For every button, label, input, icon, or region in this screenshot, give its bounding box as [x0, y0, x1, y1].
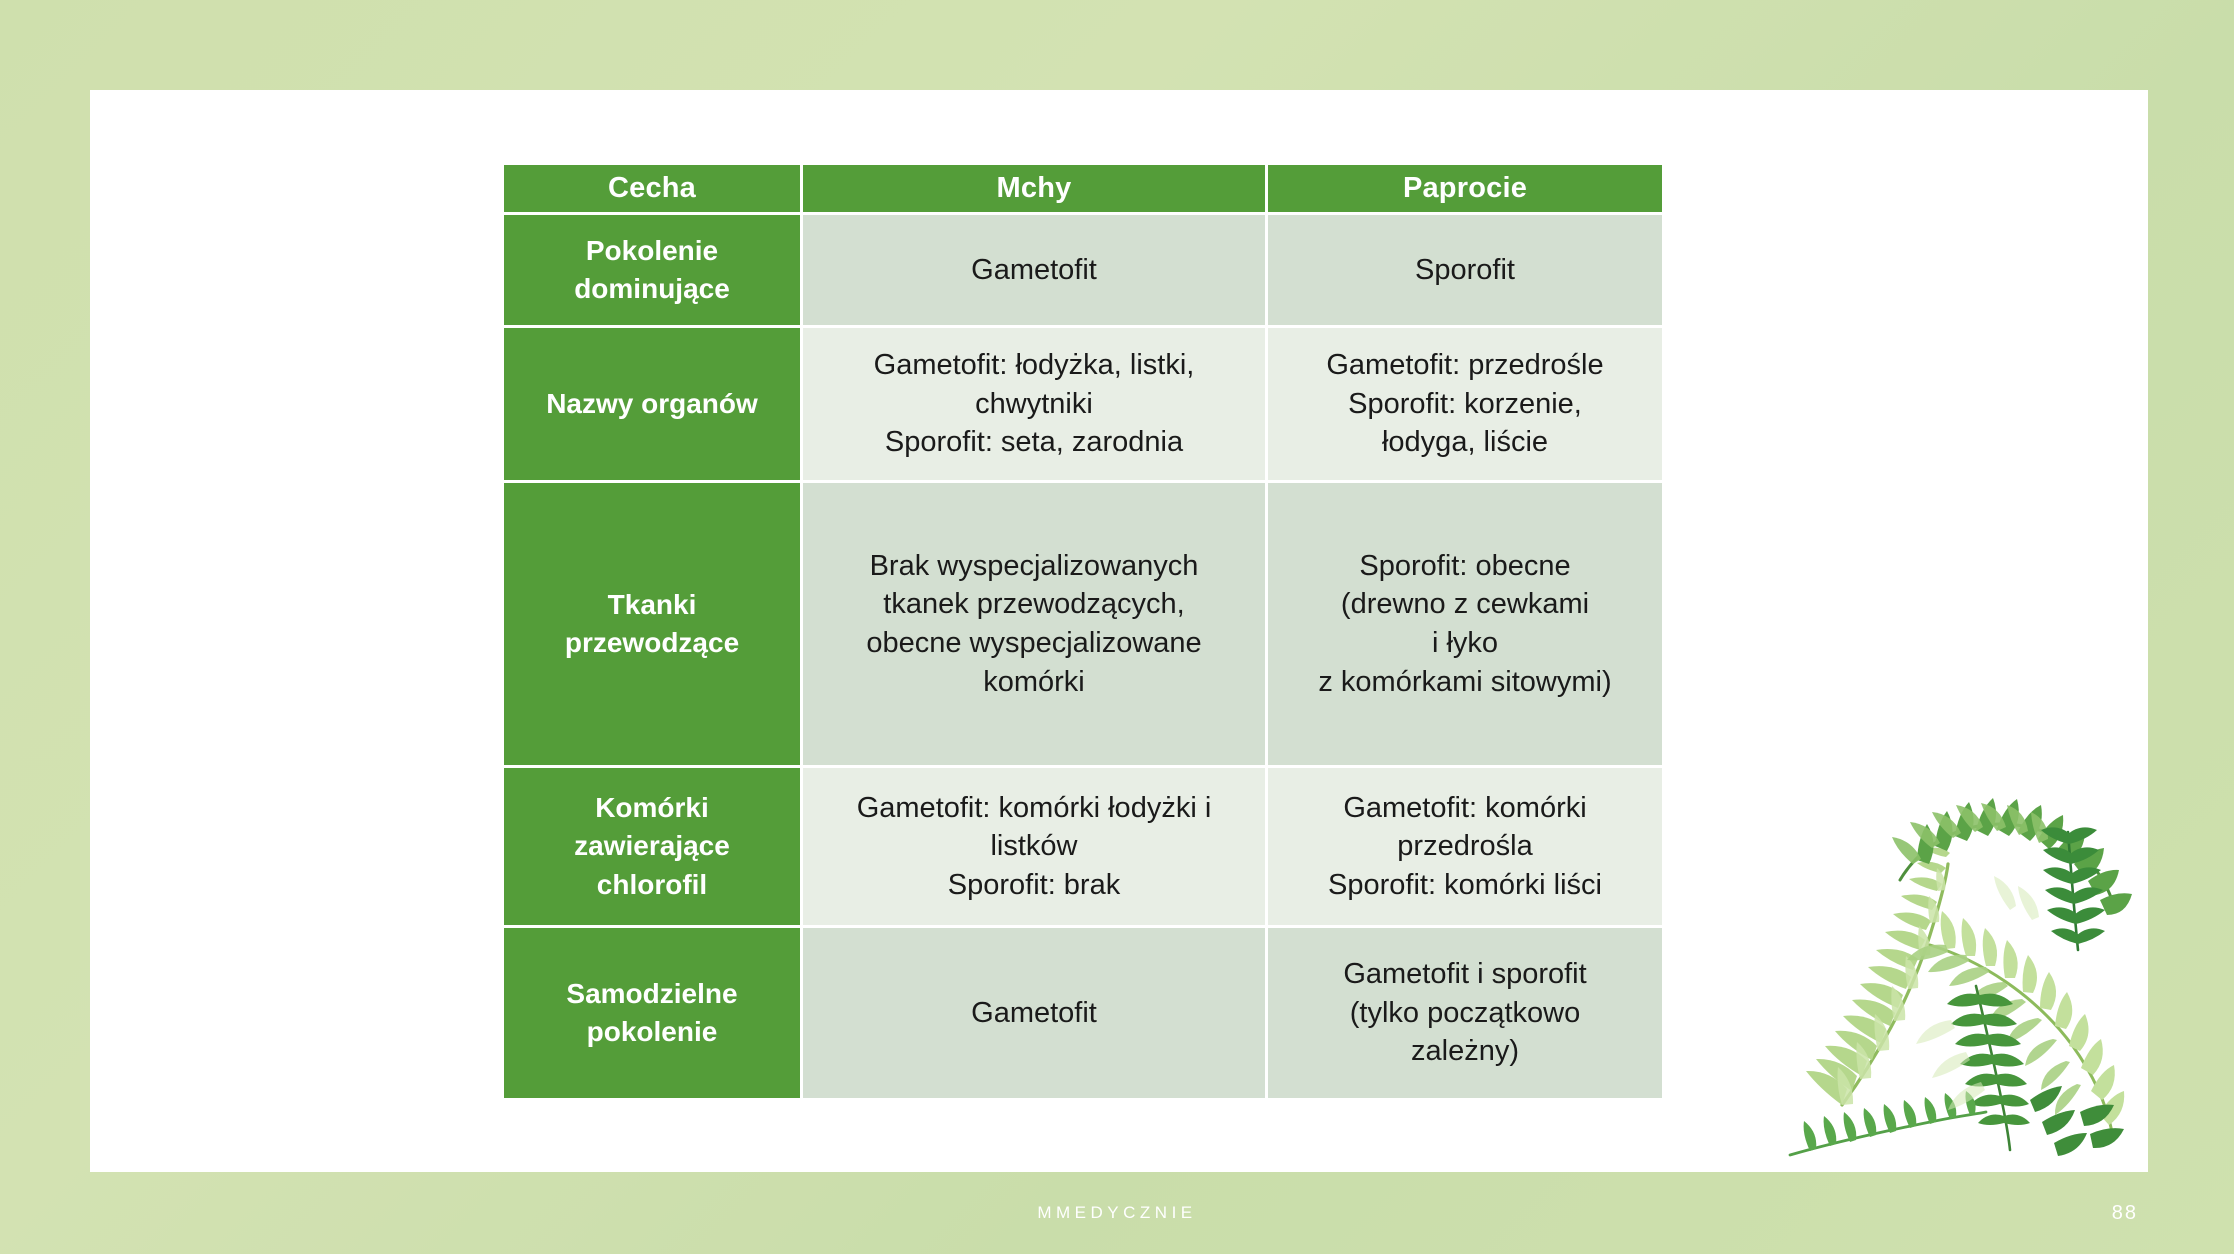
- cell-mosses-conductive-tissues: Brak wyspecjalizowanych tkanek przewodzą…: [803, 483, 1268, 768]
- cell-mosses-dominant-generation: Gametofit: [803, 215, 1268, 328]
- cell-ferns-conductive-tissues: Sporofit: obecne (drewno z cewkami i łyk…: [1268, 483, 1662, 768]
- table-header: Cecha Mchy Paprocie: [504, 165, 1662, 215]
- column-header-mosses: Mchy: [803, 165, 1268, 215]
- cell-ferns-chlorophyll-cells: Gametofit: komórki przedrośla Sporofit: …: [1268, 768, 1662, 928]
- row-label-conductive-tissues: Tkanki przewodzące: [504, 483, 803, 768]
- cell-ferns-organ-names: Gametofit: przedrośle Sporofit: korzenie…: [1268, 328, 1662, 483]
- column-header-feature: Cecha: [504, 165, 803, 215]
- row-label-independent-generation: Samodzielne pokolenie: [504, 928, 803, 1098]
- fern-illustration: [1780, 760, 2150, 1160]
- table-row: Komórki zawierające chlorofil Gametofit:…: [504, 768, 1662, 928]
- cell-mosses-independent-generation: Gametofit: [803, 928, 1268, 1098]
- table-row: Samodzielne pokolenie Gametofit Gametofi…: [504, 928, 1662, 1098]
- cell-ferns-independent-generation: Gametofit i sporofit (tylko początkowo z…: [1268, 928, 1662, 1098]
- table-row: Nazwy organów Gametofit: łodyżka, listki…: [504, 328, 1662, 483]
- row-label-organ-names: Nazwy organów: [504, 328, 803, 483]
- slide-panel: Cecha Mchy Paprocie Pokolenie dominujące…: [90, 90, 2148, 1172]
- cell-mosses-organ-names: Gametofit: łodyżka, listki, chwytniki Sp…: [803, 328, 1268, 483]
- footer-brand: MMEDYCZNIE: [0, 1203, 2234, 1223]
- cell-ferns-dominant-generation: Sporofit: [1268, 215, 1662, 328]
- row-label-dominant-generation: Pokolenie dominujące: [504, 215, 803, 328]
- table-body: Pokolenie dominujące Gametofit Sporofit …: [504, 215, 1662, 1098]
- row-label-chlorophyll-cells: Komórki zawierające chlorofil: [504, 768, 803, 928]
- table-row: Pokolenie dominujące Gametofit Sporofit: [504, 215, 1662, 328]
- column-header-ferns: Paprocie: [1268, 165, 1662, 215]
- comparison-table: Cecha Mchy Paprocie Pokolenie dominujące…: [504, 165, 1662, 1098]
- cell-mosses-chlorophyll-cells: Gametofit: komórki łodyżki i listków Spo…: [803, 768, 1268, 928]
- table-row: Tkanki przewodzące Brak wyspecjalizowany…: [504, 483, 1662, 768]
- page-number: 88: [2112, 1202, 2138, 1225]
- table-header-row: Cecha Mchy Paprocie: [504, 165, 1662, 215]
